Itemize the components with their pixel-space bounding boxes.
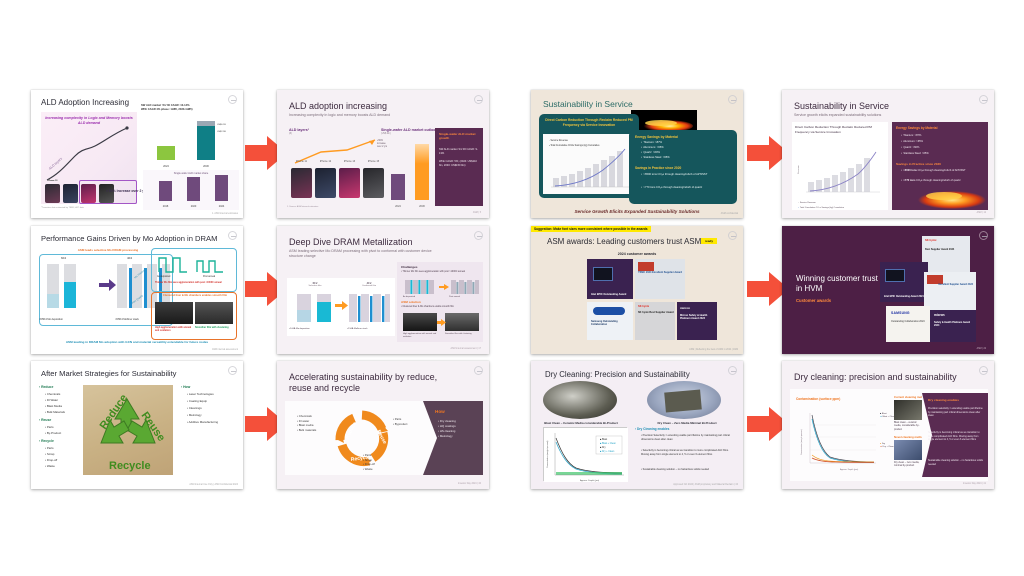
energy-savings-item: • Aluminum: >65% [901, 140, 985, 145]
asm-logo-icon [228, 231, 237, 240]
award-text: SK hynix Best Supplier Award [638, 311, 674, 314]
svg-text:ALD layers: ALD layers [48, 156, 63, 170]
challenges-item: • Thinner Mo film sees agglomeration wit… [401, 271, 481, 273]
chart-legend-item: ▪ Total Cumulative CO₂e Savings (kg) Cum… [798, 207, 844, 209]
challenges-title: Challenges [401, 265, 418, 269]
contamination-chart: ■ Blast ■ Blast + Clean ■ Dry ■ Dry + Cl… [543, 427, 627, 481]
page-title: Dry Cleaning: Precision and Sustainabili… [545, 370, 690, 379]
page-subtitle: Increasing complexity in logic and memor… [289, 113, 390, 117]
film-profile-diagram [403, 278, 479, 296]
asm-logo-icon [228, 95, 237, 104]
svg-text:Concentration (weight percent): Concentration (weight percent) [546, 440, 549, 468]
award-text: Intel EPIC Outstanding Award 2024 [884, 295, 924, 298]
clustered-title: Clustered liner & Mo chambers enables sm… [155, 294, 235, 297]
bar-label: 2024 [391, 205, 405, 208]
bar-annotation: US$6.1B [217, 124, 226, 126]
energy-savings-item: • Titanium: >87% [641, 141, 735, 146]
col-b-sub: Conformal film [355, 285, 383, 287]
award-text: TSMC 2024 Excellent Supplier Award [638, 271, 682, 274]
page-title: Sustainability in Service [794, 101, 889, 111]
caption-smoother-film: Smoother film with clustering [195, 326, 233, 329]
savings-practice-title: Savings in Practice since 2020 [896, 162, 941, 166]
svg-text:Recycle: Recycle [109, 460, 151, 472]
right-section-sublabel: (US$ bln) [381, 133, 391, 135]
dram-structure-4f2 [347, 292, 391, 326]
caption-b: <D5K4 Mo/liner stack [115, 318, 139, 321]
award-card-micron[interactable]: micron Safety & Health Platinum Award 20… [930, 310, 976, 342]
slide-page-number: Investor Day 2024 | 41 [963, 483, 986, 485]
sem-image-left [403, 313, 437, 331]
caption-post-anneal: Post anneal [449, 296, 460, 298]
slide-footnote: 1. Source: ASM internal estimates [287, 206, 318, 208]
award-text: Excellent Supplier Award 2024 [938, 283, 973, 286]
caption-blast-clean: Blast Clean – Ceramic Media considerable… [537, 421, 625, 425]
reduce-list: • Chemicals • DI water • Blast media • B… [297, 414, 316, 432]
bar-label: 2018 [159, 205, 172, 208]
page-title: ASM awards: Leading customers trust ASM [547, 237, 701, 246]
asm-logo-icon [474, 95, 483, 104]
list-item: • Waste [45, 464, 55, 468]
recycle-list: • Parts • Scrap • Drop-off • Waste [363, 453, 375, 471]
list-item: • Drop-off [45, 458, 57, 462]
slide-page-number: ASM | 12 [977, 212, 986, 214]
how-title: How [435, 409, 445, 414]
bullet-item: • Sustainable cleaning solution – no haz… [641, 468, 737, 472]
group-title-how: › How [181, 385, 190, 389]
slide-deck-overview: ALD Adoption Increasing Increasing compl… [0, 0, 1024, 576]
phone-label: iPhone 15 [45, 180, 60, 182]
award-text: Safety & Health Platinum Award 2024 [934, 321, 976, 327]
how-list: • Dry cleaning • HQ coatings • HS cleani… [438, 419, 484, 439]
energy-savings-title: Energy Savings by Material [896, 126, 937, 130]
transition-arrow-icon [99, 278, 117, 292]
asm-logo-icon [979, 366, 988, 375]
list-item: • Scrap [45, 452, 54, 456]
caption-a: <D5K4 Mo deposition [39, 318, 63, 321]
page-title: Sustainability in Service [543, 99, 633, 109]
bar-2024 [391, 174, 405, 200]
slide-footer: ASM confidential [721, 213, 738, 215]
bar-label: 2030 [415, 205, 429, 208]
col-b-title: 4F2 [127, 256, 132, 260]
reduce-reuse-recycle-ring: Reduce Reuse Recycle [333, 409, 391, 467]
award-card-samsung[interactable]: Samsung Outstanding Collaboration [587, 302, 633, 340]
svg-text:■ Dry + Clean: ■ Dry + Clean [600, 450, 615, 453]
thumb1-caption: Blast clean – ceramic media, considerabl… [894, 421, 924, 431]
col-a-title: 6F2 [61, 256, 66, 260]
caption-post-anneal: Post anneal [203, 276, 215, 278]
page-subtitle: ASM leading selective Mo DRAM processing… [289, 249, 439, 260]
award-card-intel[interactable]: Intel EPIC Outstanding Award [587, 259, 633, 299]
left-section-label: ALD layers¹ [289, 128, 309, 132]
col-a-sub: Selective film [301, 285, 329, 287]
row-ald-adoption: ALD Adoption Increasing Increasing compl… [0, 90, 1024, 218]
energy-savings-title: Energy Savings by Material [635, 135, 678, 139]
chart-legend-item: ◦ Service Revenue [798, 202, 816, 204]
section-label: 2024 customer awards [587, 252, 687, 256]
thumb2-image [894, 440, 924, 460]
group-title-reduce: › Reduce [39, 385, 53, 389]
bar-label: 2020 [187, 205, 200, 208]
sem-image-right [445, 313, 479, 331]
left-section-sublabel: (#) [289, 133, 292, 135]
slide-sustainability-after[interactable]: Sustainability in Service Service growth… [782, 90, 994, 218]
list-item: • Cleanings [187, 406, 202, 410]
revenue-savings-chart: ◦ Service Revenue ▪ Total Cumulative CO2… [543, 134, 635, 194]
award-card-tsmc[interactable]: Excellent Supplier Award 2024 [924, 272, 976, 312]
slide-page-number: ASM internal assessment | 17 [451, 348, 481, 350]
reuse-list: • Parts • Byproduct [393, 417, 407, 426]
energy-savings-item: • Titanium: >87% [901, 134, 985, 139]
bar-2030 [415, 144, 429, 200]
ready-badge: ready [701, 238, 717, 244]
award-text: Outstanding Collaboration 2024 [891, 320, 925, 323]
asm-logo-icon [728, 95, 737, 104]
slide-aftermarket-after[interactable]: Accelerating sustainability by reduce, r… [277, 361, 489, 489]
caption-dry-clean: Dry Clean – Zero Media Minimal Bi-Produc… [643, 421, 731, 425]
panel-title: Dry cleaning enables [928, 398, 959, 402]
slide-footer: Approved Oct 2024 | ASM proprietary and … [673, 484, 738, 486]
slide-footer: 1. ASM internal estimates [212, 213, 238, 215]
list-item: • Parts [45, 425, 54, 429]
panel-title: Direct Carbon Reduction Through Reclaim … [543, 118, 635, 128]
curve-note: +50%increaseover 2 yrs [377, 140, 387, 150]
savings-practice-item: • >6500 tons CO₂e through cleaning/refur… [901, 169, 985, 174]
award-text: Samsung Outstanding Collaboration [591, 320, 633, 327]
slide-drycleaning-before[interactable]: Dry Cleaning: Precision and Sustainabili… [531, 361, 743, 489]
slide-footer: ASM | Reflecting the best of ASM in 2024… [689, 349, 738, 351]
asm-logo-icon [979, 231, 988, 240]
list-item: • Metrology [187, 413, 202, 417]
list-item: • Laser Technologies [187, 392, 214, 396]
award-card-tsmc[interactable]: TSMC 2024 Excellent Supplier Award [635, 259, 685, 299]
dram-structure-6f2 [45, 262, 99, 314]
solution-title: ASM solution [401, 300, 421, 304]
blast-clean-photo [543, 381, 617, 419]
row-dram-metallization: Performance Gains Driven by Mo Adoption … [0, 226, 1024, 354]
list-item: • Chemicals [45, 392, 60, 396]
bottom-banner: Service Growth Elicits Expanded Sustaina… [531, 209, 743, 214]
page-title: Winning customer trust in HVM [796, 274, 886, 294]
market-note: SW ALD market '24-'30 CAGR: 10-14%WFE CA… [141, 104, 193, 112]
page-title: After Market Strategies for Sustainabili… [41, 369, 176, 378]
caption-a: <100Å Mo deposition [289, 328, 310, 330]
svg-text:■ Blast + Clean: ■ Blast + Clean [600, 442, 616, 445]
slide-footer: ASM Internal Use Only | ASM Confidential… [189, 484, 238, 486]
sem-image-right [195, 302, 233, 324]
svg-text:Reuse: Reuse [375, 429, 387, 445]
list-item: • By-Product [45, 431, 61, 435]
caption-as-deposited: As deposited [403, 296, 415, 298]
revenue-savings-chart: Revenue [796, 142, 884, 200]
asm-logo-icon [728, 231, 737, 240]
svg-text:Approx. Depth (µm): Approx. Depth (µm) [580, 479, 599, 482]
page-title: Deep Dive DRAM Metallization [289, 237, 413, 247]
bullet-item: • Selectivity is becoming critical as we… [641, 449, 737, 457]
challenges-item-text: Thinner Mo film sees agglomeration with … [402, 271, 465, 273]
phone-thumb [315, 168, 336, 198]
phone-thumb [291, 168, 312, 198]
film-profile-diagram [157, 252, 231, 274]
award-card-skhynix[interactable]: SK hynix Best Supplier Award 2024 [922, 236, 970, 276]
chart-panel-title: Direct Carbon Reduction Through Reclaim … [795, 125, 885, 134]
thumb1-image [894, 400, 924, 420]
page-subtitle: Customer awards [796, 298, 831, 303]
award-brand: micron [934, 313, 945, 317]
contamination-chart: Approx. Depth (µm) Concentration (weight… [796, 405, 882, 473]
award-brand: SK hynix [638, 305, 649, 308]
savings-practice-title: Savings in Practice since 2020 [635, 166, 681, 170]
note-thin-film: Thinner Mo film sees agglomeration with … [155, 282, 235, 284]
phone-label: iPhone 15 [363, 160, 384, 163]
highlight-text: > 50% increase over 2 yrs [106, 189, 147, 193]
list-item: • DI Water [45, 398, 58, 402]
slide-sustainability-before[interactable]: Sustainability in Service Direct Carbon … [531, 90, 743, 218]
bar-chart-market-share: Single wafer ALD market share 2018 2020 … [143, 170, 239, 210]
page-subtitle: Service growth elicits expanded sustaina… [794, 113, 881, 117]
slide-awards-after[interactable]: Winning customer trust in HVM Customer a… [782, 226, 994, 354]
caption-smoother-film: Smoother film with clustering [445, 333, 479, 336]
card-title: Single-wafer ALD market growth [439, 132, 479, 141]
energy-savings-item: • Stainless Steel: >65% [901, 152, 985, 157]
list-item: • Bulk Materials [45, 410, 65, 414]
page-title: Dry cleaning: precision and sustainabili… [794, 372, 957, 382]
list-item: • Blast Media [45, 404, 62, 408]
slide-page-number: ASM | 22 [977, 348, 986, 350]
bar-label: 2024 [157, 165, 175, 168]
slide-ald-adoption-before[interactable]: ALD Adoption Increasing Increasing compl… [31, 90, 243, 218]
award-brand: SAMSUNG [891, 311, 910, 315]
svg-text:■ Blast: ■ Blast [600, 438, 607, 441]
svg-text:▪ Total Cumulative CO2e Saving: ▪ Total Cumulative CO2e Savings (kg) Cum… [549, 144, 600, 147]
bar-label: 2024 [215, 205, 228, 208]
award-card-skhynix[interactable]: SK hynix SK hynix Best Supplier Award [635, 302, 675, 340]
slide-dram-after[interactable]: Deep Dive DRAM Metallization ASM leading… [277, 226, 489, 354]
energy-savings-item: • Aluminum: >65% [641, 146, 735, 151]
row-sustainability-strategies: After Market Strategies for Sustainabili… [0, 361, 1024, 489]
asm-logo-icon [979, 95, 988, 104]
panel-item: Selectivity is becoming critical as we t… [928, 431, 984, 442]
panel-item: Sustainable cleaning solution – no hazar… [928, 459, 984, 466]
phone-thumb [363, 168, 384, 198]
award-brand: SK hynix [925, 239, 937, 242]
asm-logo-icon [474, 366, 483, 375]
bottom-banner: ASM leading in DRAM Mo adoption with GCN… [39, 340, 235, 344]
panel-item: Precision selectivity = extending usable… [928, 407, 984, 418]
dry-clean-photo [647, 381, 721, 419]
svg-text:■ Dry: ■ Dry [600, 446, 606, 449]
asm-logo-icon [474, 231, 483, 240]
thumb2-caption: Dry clean – zero media, minimal by-produ… [894, 461, 924, 468]
right-section-label: Single-wafer ALD market outlook [381, 128, 437, 132]
phone-label: iPhone 13 [339, 160, 360, 163]
svg-text:Approx. Depth (µm): Approx. Depth (µm) [840, 468, 858, 471]
bar-chart-market-outlook: 2024 2030 US$6.1B US$2.5B [143, 120, 239, 168]
source-note: *Transistor data estimated by TSMC, A17 … [41, 207, 84, 209]
recycle-image: Reduce Reuse Recycle [83, 385, 173, 475]
slide-page-number: ASM | 5 [473, 212, 481, 214]
caption-b: <150Å Mo/liner stack [347, 328, 368, 330]
award-card-micron[interactable]: micron Micron Safety & Health Platinum A… [677, 302, 717, 340]
slide-footer: ASM internal assessment [212, 349, 238, 351]
savings-practice-item: • >770 tons CO₂e through cleaning/refurb… [641, 186, 735, 191]
award-card-intel[interactable]: Intel EPIC Outstanding Award 2024 [880, 262, 928, 302]
award-card-samsung[interactable]: SAMSUNG Outstanding Collaboration 2024 [886, 306, 930, 342]
asm-logo-icon [228, 366, 237, 375]
group-title-recycle: › Recycle [39, 439, 54, 443]
chart-legend-2: ● Dry ▲ Dry + Clean [880, 443, 894, 450]
bullets-title: › Dry Cleaning enables [635, 427, 669, 431]
bullet-item: • Precision Selectivity = extending usab… [641, 434, 737, 442]
dram-structure-6f2 [295, 292, 337, 326]
energy-savings-item: • Quartz: >60% [641, 151, 735, 156]
page-title: ALD Adoption Increasing [41, 98, 129, 107]
page-title: Performance Gains Driven by Mo Adoption … [41, 234, 217, 243]
card-body: SW ALD market '24-'30 CAGR: 9-13%WFE CAG… [439, 148, 479, 167]
solution-item-text: Clustered liner & Mo chambers enable smo… [402, 306, 453, 308]
list-item: • Additive Manufacturing [187, 420, 218, 424]
caption-high-agglomeration: High agglomeration with anneal and oxida… [403, 333, 437, 338]
chart-title: Contamination (surface ppm) [796, 397, 840, 401]
slide-drycleaning-after[interactable]: Dry cleaning: precision and sustainabili… [782, 361, 994, 489]
energy-savings-item: • Quartz: >60% [901, 146, 985, 151]
transition-arrow-icon [437, 319, 447, 326]
phone-label: iPhone 12 [315, 160, 336, 163]
group-title-reuse: › Reuse [39, 418, 51, 422]
award-text: Intel EPIC Outstanding Award [591, 293, 626, 296]
asm-logo-icon [728, 366, 737, 375]
slide-awards-before[interactable]: Suggestion: Make font sizes more consist… [531, 226, 743, 354]
transition-arrow-icon [335, 301, 349, 310]
slide-dram-before[interactable]: Performance Gains Driven by Mo Adoption … [31, 226, 243, 354]
solution-item: • Clustered liner & Mo chambers enable s… [401, 306, 481, 308]
bar-annotation: US$2.5B [217, 131, 226, 133]
sem-image-left [155, 302, 193, 324]
slide-aftermarket-before[interactable]: After Market Strategies for Sustainabili… [31, 361, 243, 489]
award-brand: micron [680, 306, 690, 310]
list-item: • Parts [45, 446, 54, 450]
caption-high-agglomeration: High agglomeration with anneal and oxida… [155, 326, 193, 332]
list-item: • Coating Equip [187, 399, 207, 403]
caption-as-deposited: As deposited [157, 276, 170, 278]
slide-page-number: Investor Day 2024 | 40 [458, 483, 481, 485]
svg-text:Concentration (weight percent): Concentration (weight percent) [800, 429, 803, 455]
suggestion-banner: Suggestion: Make font sizes more consist… [531, 226, 651, 232]
svg-text:Revenue: Revenue [798, 164, 800, 174]
award-text: Best Supplier Award 2024 [925, 248, 954, 251]
bar-label: 2030 [197, 165, 215, 168]
phone-thumb [339, 168, 360, 198]
energy-savings-item: • Stainless Steel: >65% [641, 156, 735, 161]
savings-practice-item: • >770 tons CO₂e through cleaning/refurb… [901, 179, 985, 184]
savings-practice-item: • >6500 tons CO₂e through cleaning/refur… [641, 173, 735, 178]
page-title: ALD adoption increasing [289, 101, 387, 111]
svg-text:◦ Service Revenue: ◦ Service Revenue [549, 139, 569, 142]
award-text: Micron Safety & Health Platinum Award 20… [680, 314, 717, 321]
thumb2-title: Novel cleaning method [894, 435, 925, 439]
slide-ald-adoption-after[interactable]: ALD adoption increasing Increasing compl… [277, 90, 489, 218]
phone-label: iPhone 11 [291, 160, 312, 163]
chart-legend: ■ Blast ▲ Blast + Clean [880, 413, 895, 420]
page-title: Accelerating sustainability by reduce, r… [289, 372, 439, 395]
ald-layers-curve: ALD layers [41, 124, 137, 186]
